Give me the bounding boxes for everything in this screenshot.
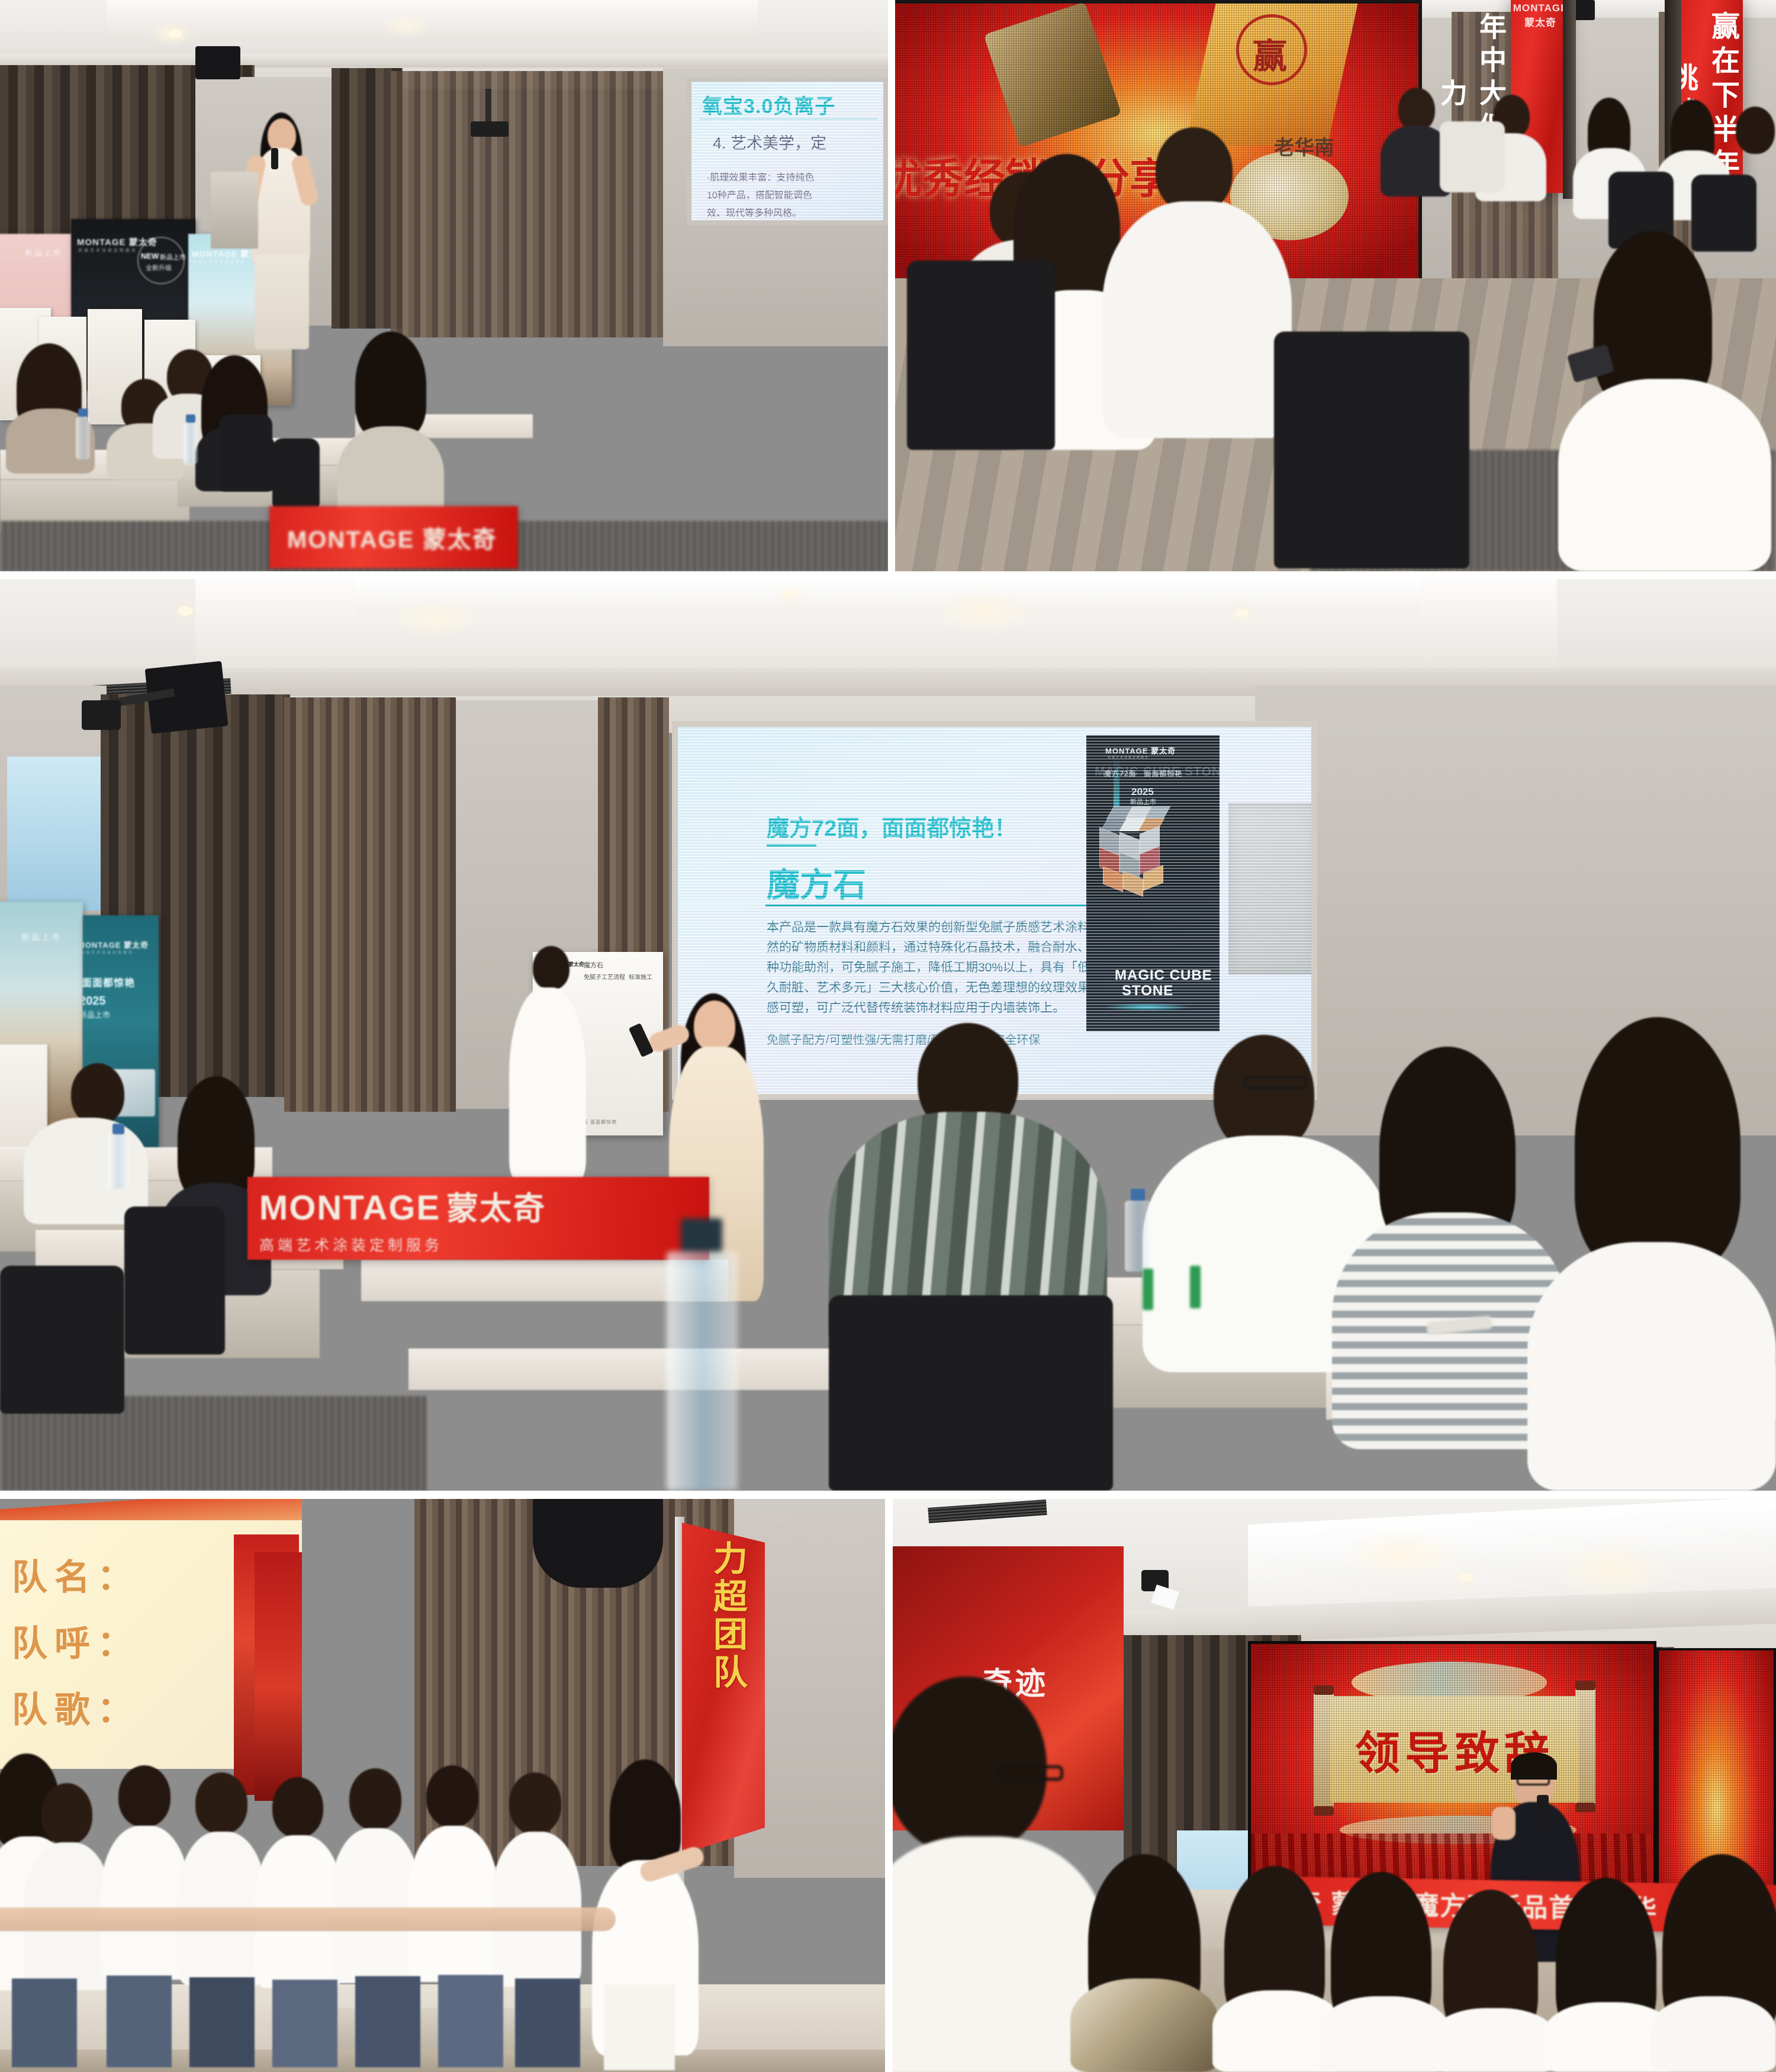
slide-body-line-5: 感可塑，可广泛代替传统装饰材料应用于内墙装饰上。	[767, 998, 1065, 1016]
audience-chair	[1691, 175, 1756, 252]
audience-chair	[829, 1295, 1113, 1491]
poster-glow	[1103, 1003, 1192, 1011]
projector-mount	[485, 89, 491, 124]
rollup-launch: 新品上市	[83, 1009, 110, 1020]
eyeglasses	[998, 1765, 1063, 1781]
podium	[211, 172, 258, 249]
audience-body	[1558, 379, 1771, 571]
poster-launch-label: 新品上市	[1130, 797, 1156, 806]
team-legs	[515, 1978, 580, 2067]
ceiling-chamfer	[355, 579, 1421, 614]
team-member-body	[330, 1828, 420, 1983]
ceiling-spotlight	[1550, 1540, 1674, 1600]
bottle-body	[76, 417, 90, 459]
team-legs	[438, 1975, 503, 2067]
rollup-label: 新品上市	[21, 931, 62, 943]
photo-collage: 氧宝3.0负离子 4. 艺术美学，定 -肌理效果丰富：支持纯色 10种产品，搭配…	[0, 0, 1776, 2072]
table-banner-brand-cn: 蒙太奇	[446, 1182, 546, 1229]
bottle-cap	[186, 414, 195, 423]
flag-text: 力超团队	[702, 1540, 752, 1692]
poster-logo: MONTAGE 蒙太奇	[1105, 745, 1176, 756]
team-member-head	[195, 1772, 247, 1834]
product-board-line-2: 免腻子工艺流程	[584, 972, 625, 981]
audience-head	[1736, 107, 1775, 154]
slide-body-line-2: 然的矿物质材料和颜料，通过特殊化石晶技术，融合耐水、耐候等多	[767, 938, 1140, 955]
led-screen-frame-main: 领导致辞	[1248, 1641, 1656, 1902]
window	[7, 757, 108, 910]
ceiling-spotlight	[391, 597, 480, 638]
poster-bottom-en-line-1: MAGIC CUBE	[1115, 967, 1212, 984]
ceiling-spotlight	[379, 13, 432, 39]
audience-body	[1319, 1996, 1449, 2072]
slide-body-line-2: 10种产品，搭配智能调色	[707, 187, 812, 201]
projection-screen-frame: 氧宝3.0负离子 4. 艺术美学，定 -肌理效果丰富：支持纯色 10种产品，搭配…	[687, 77, 888, 225]
projector	[82, 700, 121, 730]
bottle-cap	[681, 1218, 722, 1251]
rollup-tagline: 面面都惊艳	[83, 974, 135, 989]
poster-bottom-en-line-2: STONE	[1122, 983, 1173, 999]
panel-bottom-left: 队名： 队呼： 队歌： 力超团队	[0, 1499, 885, 2072]
team-member-head	[349, 1768, 401, 1830]
ceiling-speaker	[195, 46, 240, 79]
audience-head	[178, 1076, 255, 1201]
presenter-skirt	[255, 255, 309, 349]
audience-head	[1575, 1017, 1740, 1272]
slide-body-line-4: 久耐脏、艺术多元」三大核心价值，无色差理想的纹理效果和肌理质	[767, 978, 1140, 996]
audience-body	[1527, 1242, 1776, 1491]
rollup-sublabel: 高端艺术涂装定制服务	[78, 247, 137, 253]
audience-body	[1070, 1978, 1218, 2072]
product-board-line-1: 魔方石	[584, 960, 603, 970]
rollup-sublabel: 高端艺术涂装定制服务	[193, 259, 246, 264]
table-banner-text: MONTAGE 蒙太奇	[287, 520, 497, 555]
ceiling-speaker	[533, 1499, 663, 1588]
team-legs	[604, 1984, 675, 2070]
rollup-badge-cn2: 全新升级	[146, 263, 172, 272]
slide-rule	[700, 118, 877, 120]
rollup-sublabel: 高端艺术涂装定制服务	[83, 950, 134, 955]
audience-chair	[1440, 121, 1505, 192]
audience-body	[1650, 1996, 1776, 2072]
audience-head	[1156, 127, 1233, 213]
projection-screen: 氧宝3.0负离子 4. 艺术美学，定 -肌理效果丰富：支持纯色 10种产品，搭配…	[691, 82, 883, 220]
team-legs	[272, 1980, 337, 2067]
audience-chair	[0, 1266, 124, 1414]
team-member-body	[101, 1826, 189, 1980]
team-member-body	[408, 1826, 498, 1982]
slide-texture-swatch	[1228, 803, 1311, 974]
slide-product-name: 魔方石	[767, 858, 866, 906]
team-legs	[12, 1978, 77, 2067]
audience-chair	[1274, 332, 1469, 568]
bottle-body	[667, 1251, 738, 1491]
ceiling-downlight	[178, 606, 193, 616]
bottle-body	[1125, 1201, 1151, 1272]
slide-body-line-1: 本产品是一款具有魔方石效果的创新型免腻子质感艺术涂料，采用天	[767, 918, 1140, 935]
audience-body	[1102, 201, 1292, 438]
panel-center: 魔方72面，面面都惊艳！ 魔方石 本产品是一款具有魔方石效果的创新型免腻子质感艺…	[0, 579, 1776, 1491]
audience-chair	[219, 414, 272, 491]
bottle-cap	[112, 1124, 124, 1134]
eyeglasses	[1243, 1076, 1307, 1089]
led-pixel-grid	[1251, 1644, 1653, 1899]
presenter-head	[694, 1000, 735, 1051]
bottle-body	[108, 1134, 129, 1189]
projector	[471, 121, 509, 137]
ceiling-spotlight	[1343, 1529, 1461, 1582]
product-board-line-3: 标准施工	[629, 972, 652, 981]
team-arms	[0, 1907, 616, 1931]
speaker-hand	[1492, 1807, 1516, 1840]
slide-body-line-1: -肌理效果丰富：支持纯色	[707, 169, 814, 184]
audience-chair	[272, 438, 320, 509]
eyeglasses	[1517, 1776, 1550, 1785]
ceiling-smoke-detector	[764, 1507, 790, 1523]
team-member-head	[118, 1765, 170, 1827]
rollup-year: 2025	[83, 995, 106, 1008]
slide-poster-image: MONTAGE 蒙太奇 高端艺术涂装定制服务 MAGIC CUBE STONE …	[1086, 735, 1220, 1031]
rollup-logo: MONTAGE 蒙太奇	[83, 939, 149, 950]
audience-head	[355, 332, 426, 438]
team-member-head	[509, 1772, 561, 1834]
panel-top-left: 氧宝3.0负离子 4. 艺术美学，定 -肌理效果丰富：支持纯色 10种产品，搭配…	[0, 0, 888, 571]
table-banner-row: MONTAGE 蒙太奇	[259, 1182, 546, 1229]
bottle-cap	[78, 408, 88, 417]
water-bottle	[1125, 1189, 1151, 1272]
panel-bottom-right: 奇迹 领导致辞	[893, 1499, 1776, 2072]
slide-divider-short	[767, 844, 816, 847]
wall-wood-slats	[391, 71, 663, 337]
rollup-badge-en: NEW	[141, 252, 159, 260]
speaker-microphone	[1537, 1795, 1549, 1832]
water-bottle	[108, 1124, 129, 1189]
ceiling-downlight	[1458, 1573, 1472, 1582]
vertical-banner-logo: MONTAGE 蒙太奇	[1511, 0, 1570, 29]
audience-table	[408, 1349, 858, 1390]
wall-wood-slats	[284, 697, 456, 1112]
slide-body-line-3: 效、现代等多种风格。	[707, 205, 802, 219]
ceiling-downlight	[1235, 609, 1249, 617]
led-screen-main: 领导致辞	[1251, 1644, 1653, 1899]
table-banner-brand-en: MONTAGE	[259, 1188, 440, 1228]
rollup-badge-cn: 新品上市	[160, 252, 186, 262]
assistant-head	[533, 946, 570, 990]
green-marker-pen	[1143, 1269, 1153, 1310]
slide-divider-long	[765, 905, 1132, 906]
panel-top-right: 赢 优秀经销商分享 老华南 MONTAGE 蒙太奇 年中大促火力 赢在下半年挑战	[895, 0, 1776, 571]
slide-title: 氧宝3.0负离子	[702, 90, 835, 119]
team-legs	[107, 1976, 172, 2067]
poster-year: 2025	[1131, 786, 1154, 798]
audience-head	[1398, 88, 1435, 131]
speaker-name-tag: 老华南	[1274, 131, 1334, 160]
audience-chair	[907, 260, 1055, 450]
team-screen-line-3: 队歌：	[12, 1681, 140, 1733]
water-bottle	[76, 408, 90, 459]
water-bottle-foreground	[663, 1218, 740, 1491]
ceiling-downlight	[783, 590, 797, 599]
ceiling-recess	[107, 0, 758, 41]
team-member-head	[426, 1765, 478, 1827]
audience-body	[1431, 2008, 1556, 2072]
team-member-head	[272, 1777, 323, 1838]
table-banner-sub: 高端艺术涂装定制服务	[259, 1234, 443, 1255]
bottle-body	[184, 423, 198, 464]
rollup-label: 新品上市	[25, 247, 63, 258]
battle-poster-large	[255, 1552, 302, 1801]
bottle-cap	[1131, 1189, 1145, 1201]
team-legs	[189, 1977, 255, 2067]
assistant-body	[509, 987, 586, 1183]
team-flag: 力超团队	[682, 1523, 765, 1854]
presenter-microphone	[271, 148, 278, 169]
team-legs	[355, 1976, 420, 2067]
team-screen-line-1: 队名：	[12, 1549, 140, 1600]
table-red-banner: MONTAGE 蒙太奇	[269, 506, 518, 568]
slide-subtitle: 4. 艺术美学，定	[713, 130, 826, 153]
table-red-banner: MONTAGE 蒙太奇 高端艺术涂装定制服务	[247, 1177, 709, 1260]
audience-chair	[124, 1206, 225, 1354]
team-screen-line-2: 队呼：	[12, 1615, 140, 1666]
ceiling-spotlight	[935, 590, 1036, 635]
audience-head	[71, 1063, 124, 1125]
cube-face-left	[1123, 871, 1143, 897]
green-marker-pen	[1190, 1266, 1201, 1308]
water-bottle	[184, 414, 198, 464]
slide-headline: 魔方72面，面面都惊艳！	[767, 810, 1016, 842]
ceiling-downlight	[169, 30, 182, 38]
team-member-head	[41, 1783, 92, 1845]
poster-rubik-cube	[1099, 806, 1176, 883]
